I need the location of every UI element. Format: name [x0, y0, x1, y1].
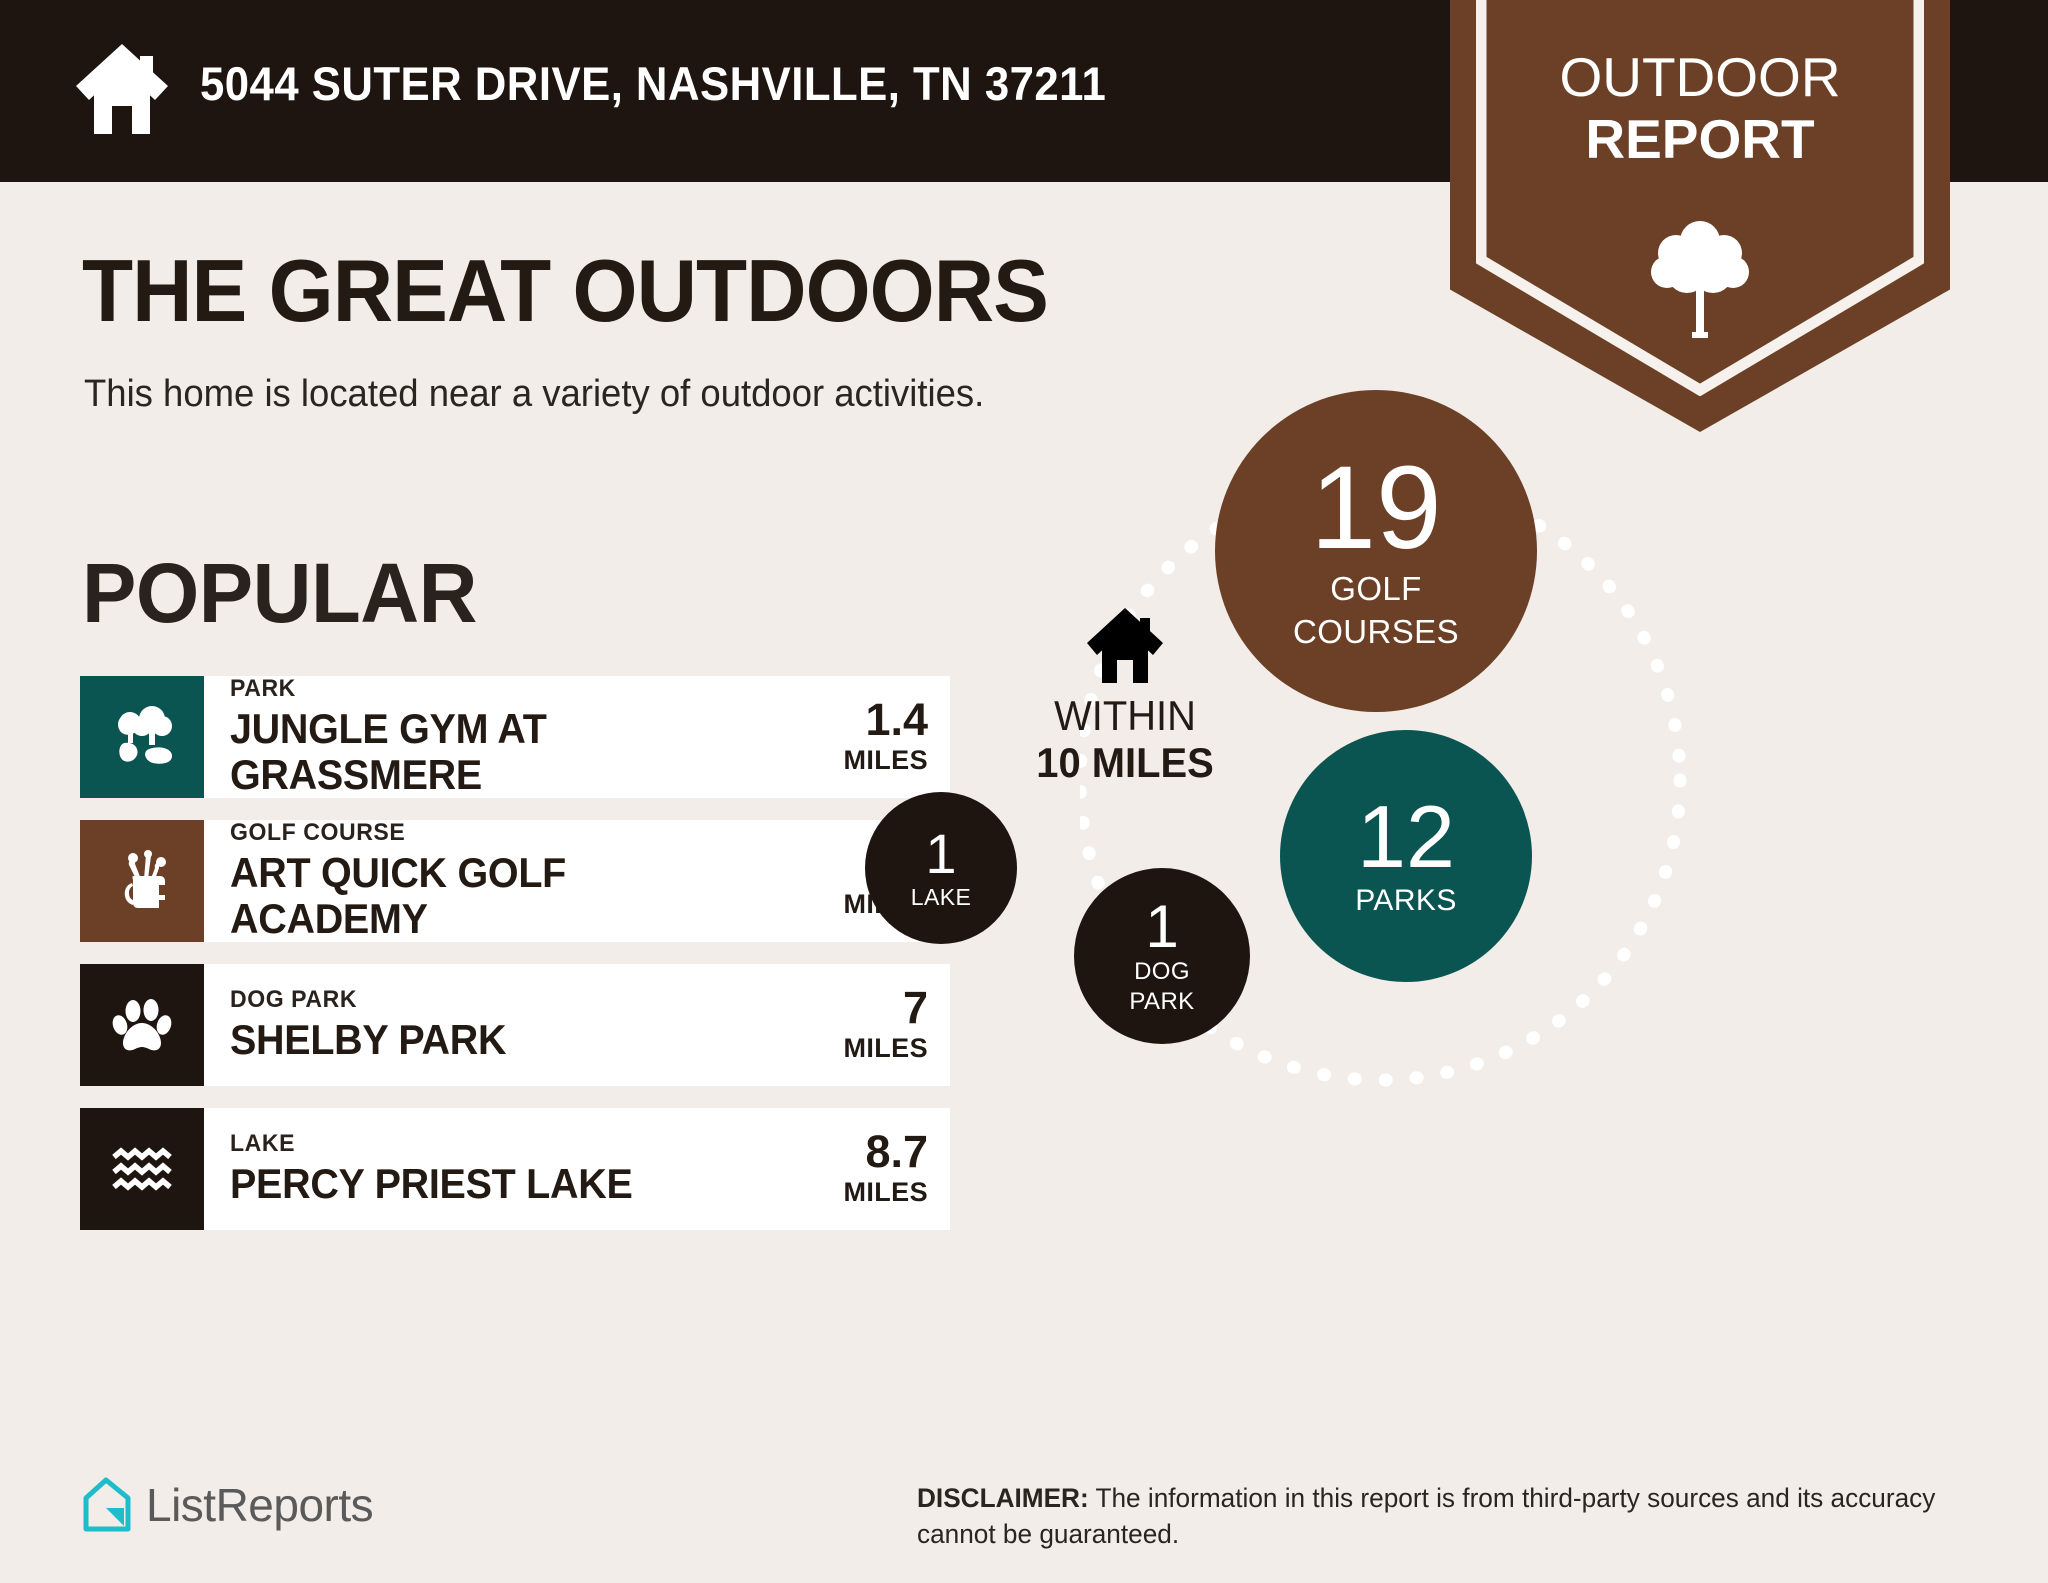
list-item-text: DOG PARK SHELBY PARK [204, 964, 790, 1086]
bubble-value: 1 [925, 827, 956, 880]
distance-unit: MILES [843, 1032, 928, 1064]
list-item-name: ART QUICK GOLF ACADEMY [230, 850, 756, 942]
distance-unit: MILES [843, 744, 928, 776]
listreports-logo: ListReports [80, 1477, 373, 1533]
badge-title-line1: OUTDOOR [1450, 50, 1950, 105]
list-item-distance: 1.4 MILES [790, 676, 950, 798]
bubble-lake: 1 LAKE [865, 792, 1017, 944]
water-waves-icon [80, 1108, 204, 1230]
popular-list: PARK JUNGLE GYM AT GRASSMERE 1.4 MILES [80, 676, 950, 1252]
list-item-category: LAKE [230, 1131, 768, 1157]
list-item-text: GOLF COURSE ART QUICK GOLF ACADEMY [204, 820, 790, 942]
logo-text: ListReports [146, 1482, 373, 1528]
badge-title-line2: REPORT [1450, 112, 1950, 167]
within-distance-caption: WITHIN 10 MILES [970, 692, 1280, 786]
popular-heading: POPULAR [82, 551, 477, 635]
bubble-label-line1: DOG [1134, 959, 1190, 984]
list-item-text: PARK JUNGLE GYM AT GRASSMERE [204, 676, 790, 798]
paw-print-icon [80, 964, 204, 1086]
bubble-label-line1: PARKS [1355, 885, 1456, 917]
bubble-label-line1: GOLF [1330, 572, 1421, 607]
caption-line2: 10 MILES [978, 739, 1273, 786]
tree-icon [1645, 215, 1755, 340]
list-item[interactable]: PARK JUNGLE GYM AT GRASSMERE 1.4 MILES [80, 676, 950, 798]
bubble-label-line1: LAKE [911, 885, 971, 909]
distance-value: 7 [903, 985, 928, 1030]
distance-unit: MILES [843, 1176, 928, 1208]
list-item-category: GOLF COURSE [230, 820, 768, 846]
bubble-golf-courses: 19 GOLF COURSES [1215, 390, 1537, 712]
bubble-label-line2: PARK [1129, 989, 1194, 1014]
list-item[interactable]: LAKE PERCY PRIEST LAKE 8.7 MILES [80, 1108, 950, 1230]
list-item[interactable]: GOLF COURSE ART QUICK GOLF ACADEMY 4.6 M… [80, 820, 950, 942]
list-item-name: PERCY PRIEST LAKE [230, 1161, 756, 1207]
disclaimer: DISCLAIMER: The information in this repo… [917, 1481, 1960, 1552]
distance-value: 1.4 [865, 697, 928, 742]
list-item-distance: 8.7 MILES [790, 1108, 950, 1230]
caption-line1: WITHIN [978, 692, 1273, 739]
list-item-category: DOG PARK [230, 987, 768, 1013]
bubble-label-line2: COURSES [1293, 615, 1459, 650]
list-item-name: SHELBY PARK [230, 1017, 756, 1063]
golf-bag-icon [80, 820, 204, 942]
list-item[interactable]: DOG PARK SHELBY PARK 7 MILES [80, 964, 950, 1086]
distance-value: 8.7 [865, 1129, 928, 1174]
page-subtitle: This home is located near a variety of o… [84, 375, 984, 413]
bubble-parks: 12 PARKS [1280, 730, 1532, 982]
park-trees-icon [80, 676, 204, 798]
page-title: THE GREAT OUTDOORS [82, 247, 1048, 335]
outdoor-report-page: 5044 SUTER DRIVE, NASHVILLE, TN 37211 OU… [0, 0, 2048, 1583]
list-item-text: LAKE PERCY PRIEST LAKE [204, 1108, 790, 1230]
header-address: 5044 SUTER DRIVE, NASHVILLE, TN 37211 [200, 56, 1106, 111]
list-item-distance: 7 MILES [790, 964, 950, 1086]
bubble-value: 12 [1357, 795, 1455, 879]
disclaimer-label: DISCLAIMER: [917, 1483, 1089, 1513]
bubble-value: 19 [1310, 452, 1441, 564]
list-item-name: JUNGLE GYM AT GRASSMERE [230, 706, 756, 798]
list-item-category: PARK [230, 676, 768, 702]
home-icon [72, 38, 172, 138]
bubble-value: 1 [1145, 898, 1178, 955]
bubble-dog-park: 1 DOG PARK [1074, 868, 1250, 1044]
home-icon [1085, 605, 1165, 685]
house-logo-icon [80, 1477, 132, 1533]
proximity-bubble-chart: 19 GOLF COURSES 12 PARKS 1 LAKE 1 DOG PA… [1080, 470, 1980, 1330]
